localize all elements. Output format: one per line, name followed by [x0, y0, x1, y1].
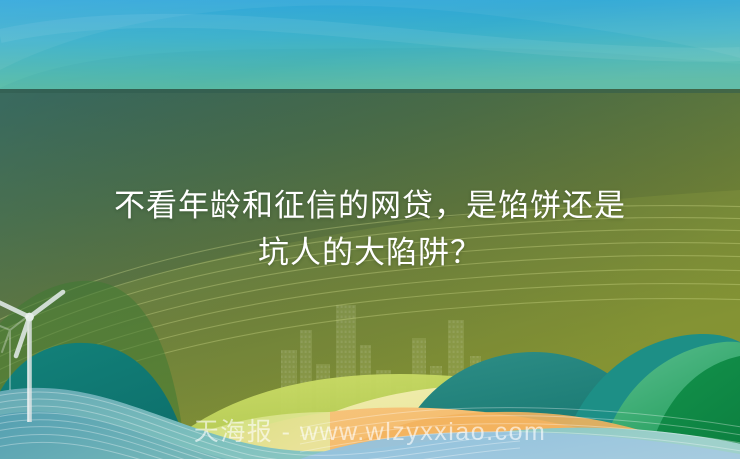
poster-background-art [0, 0, 740, 459]
poster-canvas: 不看年龄和征信的网贷，是馅饼还是 坑人的大陷阱？ 天海报 - www.wlzyx… [0, 0, 740, 459]
sky-band [0, 0, 740, 90]
